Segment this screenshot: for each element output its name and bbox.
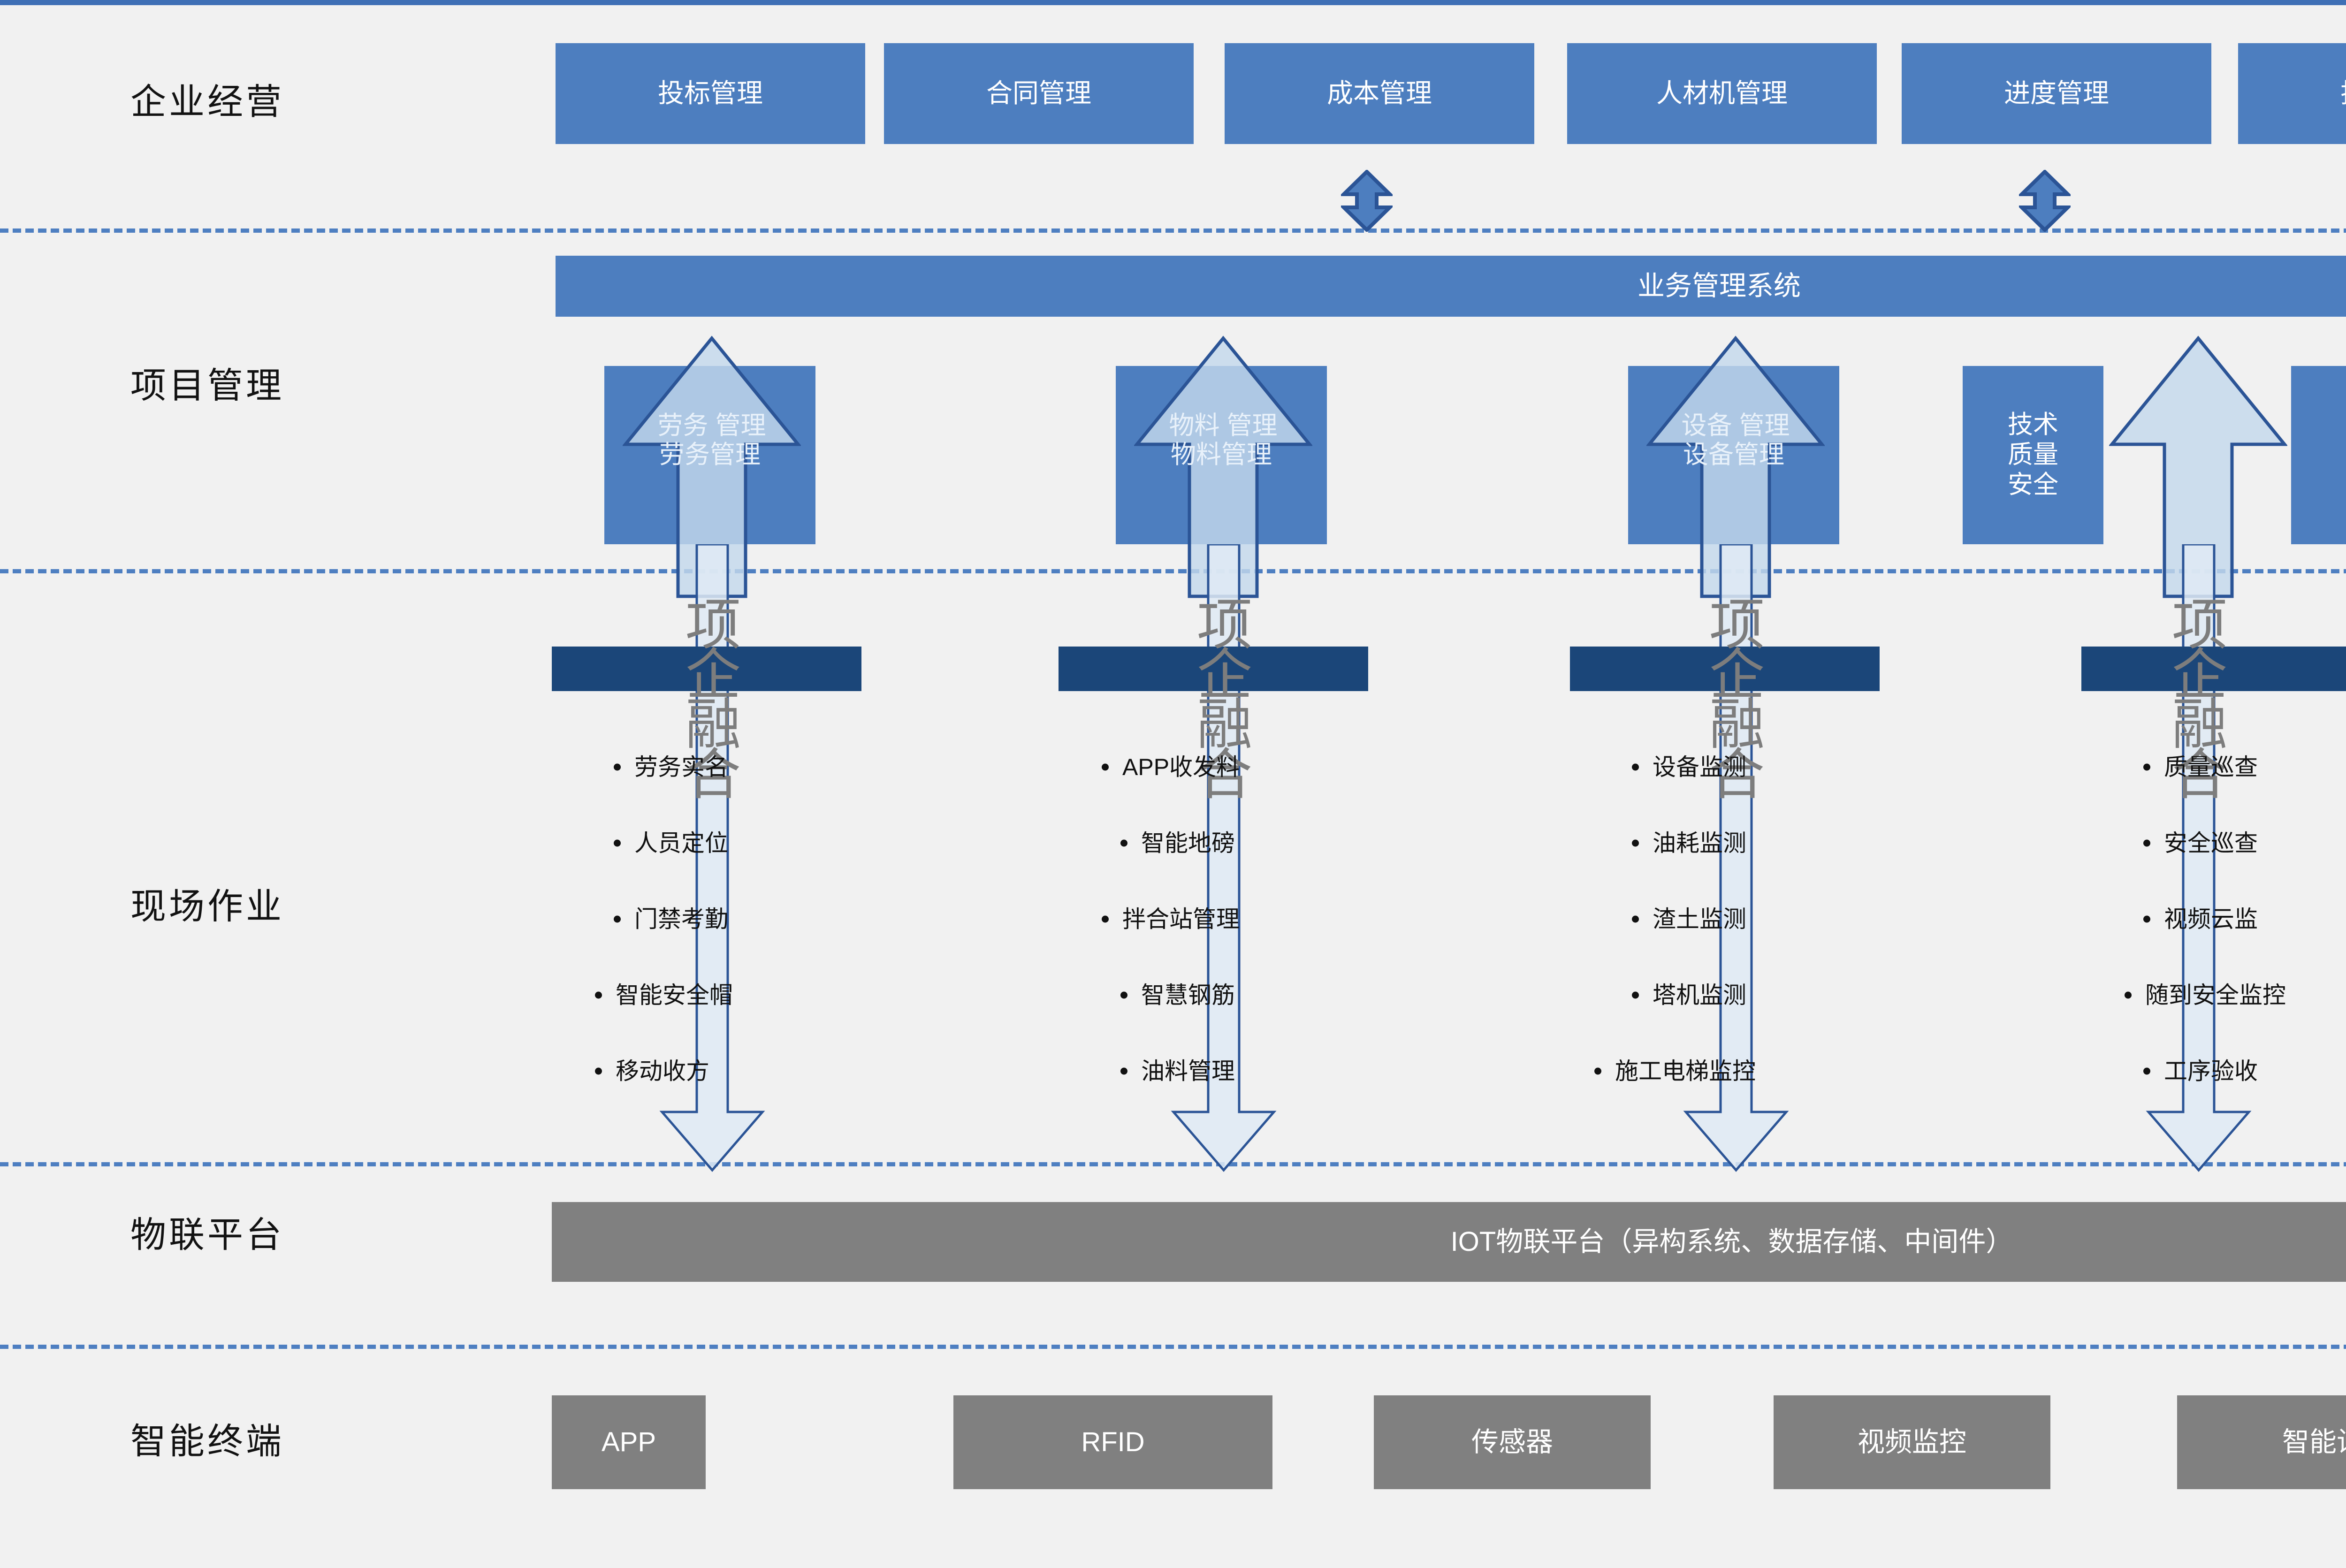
list-item: 随到安全监控 [2121,983,2286,1007]
terminal-box-app[interactable]: APP [552,1395,706,1489]
list-item: 视频云监 [2140,907,2286,931]
list-item: 门禁考勤 [610,907,733,931]
list-item: 塔机监测 [1628,983,1756,1007]
row-label-field: 现场作业 [130,877,284,929]
field-list-equipment: 设备监测 油耗监测 渣土监测 塔机监测 施工电梯监控 [1628,755,1756,1083]
terminal-box-sensor[interactable]: 传感器 [1374,1395,1651,1489]
double-arrow-schedule-connector [2019,170,2071,232]
iot-platform-bar[interactable]: IOT物联平台（异构系统、数据存储、中间件） [552,1202,2346,1282]
architecture-diagram: 企业经营 项目管理 现场作业 物联平台 智能终端 投标管理 合同管理 成本管理 … [0,0,2346,1568]
enterprise-box-resources[interactable]: 人材机管理 [1567,43,1877,144]
terminal-box-video[interactable]: 视频监控 [1774,1395,2050,1489]
business-system-bar[interactable]: 业务管理系统 [556,256,2346,317]
band-separator-1 [0,228,2346,233]
list-item: 智能安全帽 [591,983,733,1007]
field-list-labor: 劳务实名 人员定位 门禁考勤 智能安全帽 移动收方 [610,755,733,1083]
row-label-project: 项目管理 [130,357,284,408]
terminal-box-smart-device[interactable]: 智能设备 [2177,1395,2346,1489]
top-rule [0,0,2346,5]
list-item: 安全巡查 [2140,831,2286,855]
project-box-schedule[interactable]: 进度管理 [2291,366,2346,544]
field-list-tech-quality: 质量巡查 安全巡查 视频云监 随到安全监控 工序验收 [2140,755,2286,1083]
list-item: 油料管理 [1117,1059,1240,1083]
double-arrow-cost-connector [1341,170,1393,232]
list-item: 设备监测 [1628,755,1756,779]
enterprise-box-cost[interactable]: 成本管理 [1225,43,1534,144]
enterprise-box-tech-quality[interactable]: 技术质量 [2238,43,2346,144]
list-item: 拌合站管理 [1098,907,1240,931]
list-item: 渣土监测 [1628,907,1756,931]
band-separator-4 [0,1345,2346,1349]
list-item: 人员定位 [610,831,733,855]
row-label-enterprise: 企业经营 [130,73,284,124]
list-item: 工序验收 [2140,1059,2286,1083]
enterprise-box-contract[interactable]: 合同管理 [884,43,1194,144]
list-item: 移动收方 [591,1059,733,1083]
list-item: 劳务实名 [610,755,733,779]
list-item: 油耗监测 [1628,831,1756,855]
list-item: 智慧钢筋 [1117,983,1240,1007]
field-list-material: APP收发料 智能地磅 拌合站管理 智慧钢筋 油料管理 [1117,755,1240,1083]
enterprise-box-bidding[interactable]: 投标管理 [556,43,865,144]
row-label-terminal: 智能终端 [130,1412,284,1464]
project-box-tech-quality-safety[interactable]: 技术 质量 安全 [1963,366,2103,544]
enterprise-box-schedule[interactable]: 进度管理 [1902,43,2211,144]
row-label-iot: 物联平台 [130,1206,284,1257]
list-item: APP收发料 [1098,755,1240,779]
list-item: 施工电梯监控 [1591,1059,1756,1083]
list-item: 智能地磅 [1117,831,1240,855]
list-item: 质量巡查 [2140,755,2286,779]
terminal-box-rfid[interactable]: RFID [953,1395,1272,1489]
